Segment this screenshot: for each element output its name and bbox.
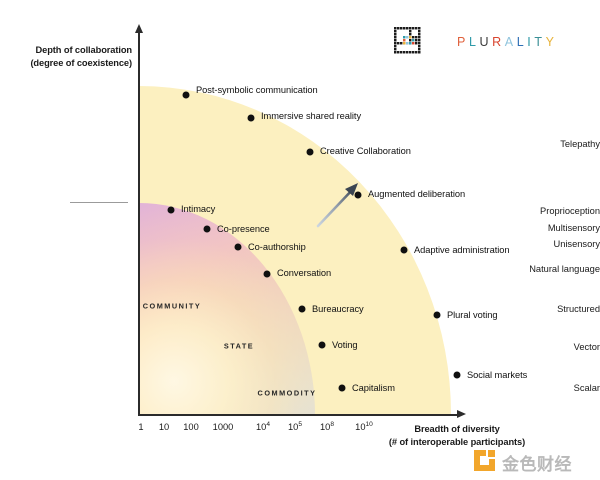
y-axis-tick-label: Natural language (472, 264, 600, 274)
logo-letter: I (527, 35, 534, 49)
x-axis-line (138, 414, 460, 416)
data-point-marker (299, 306, 306, 313)
data-point-marker (183, 92, 190, 99)
y-axis-title-line1: Depth of collaboration (8, 44, 132, 57)
data-point-marker (235, 244, 242, 251)
data-point-label: Immersive shared reality (261, 111, 361, 121)
data-point-marker (264, 271, 271, 278)
watermark: 金色财经 (473, 448, 593, 474)
data-point-marker (204, 226, 211, 233)
chart-screenshot: Depth of collaboration (degree of coexis… (0, 0, 600, 480)
logo-letter: Y (546, 35, 558, 49)
data-point-label: Voting (332, 340, 358, 350)
data-point-marker (434, 312, 441, 319)
y-axis-title-line2: (degree of coexistence) (8, 57, 132, 70)
data-point-label: Post-symbolic communication (196, 85, 318, 95)
data-point-marker (454, 372, 461, 379)
x-axis-tick-label: 100 (183, 422, 199, 432)
data-point-marker (248, 115, 255, 122)
logo-letter: P (457, 35, 469, 49)
data-point-label: Augmented deliberation (368, 189, 465, 199)
data-point-label: Adaptive administration (414, 245, 510, 255)
region-label: COMMODITY (258, 389, 317, 398)
data-point-marker (355, 192, 362, 199)
y-axis-divider-rule (70, 202, 128, 203)
y-axis-title: Depth of collaboration (degree of coexis… (8, 44, 132, 70)
data-point-label: Social markets (467, 370, 527, 380)
data-point-label: Co-authorship (248, 242, 306, 252)
x-axis-tick-label: 10 (159, 422, 169, 432)
plurality-logo: PLURALITY (391, 24, 563, 64)
x-axis-tick-label: 104 (256, 422, 270, 432)
x-axis-tick-label: 105 (288, 422, 302, 432)
data-point-marker (168, 207, 175, 214)
data-point-label: Creative Collaboration (320, 146, 411, 156)
plurality-logo-wordmark: PLURALITY (457, 35, 558, 49)
data-point-marker (307, 149, 314, 156)
data-point-label: Co-presence (217, 224, 270, 234)
y-axis-tick-label: Proprioception (472, 206, 600, 216)
plurality-logo-mark-icon (391, 24, 447, 64)
logo-letter: A (505, 35, 517, 49)
y-axis-tick-label: Scalar (472, 383, 600, 393)
data-point-marker (319, 342, 326, 349)
y-axis-arrow-icon (135, 24, 143, 33)
x-axis-tick-label: 1010 (355, 422, 373, 432)
data-point-label: Capitalism (352, 383, 395, 393)
data-point-label: Conversation (277, 268, 331, 278)
watermark-text: 金色财经 (502, 450, 572, 475)
data-point-label: Bureaucracy (312, 304, 364, 314)
logo-letter: U (480, 35, 493, 49)
y-axis-tick-label: Telepathy (472, 139, 600, 149)
data-point-marker (339, 385, 346, 392)
data-point-label: Plural voting (447, 310, 498, 320)
x-axis-tick-label: 1 (138, 422, 143, 432)
x-axis-arrow-icon (457, 410, 466, 418)
y-axis-line (138, 32, 140, 415)
logo-letter: T (534, 35, 545, 49)
logo-letter: R (492, 35, 505, 49)
region-label: COMMUNITY (143, 302, 202, 311)
y-axis-tick-label: Multisensory (472, 223, 600, 233)
data-point-label: Intimacy (181, 204, 215, 214)
logo-letter: L (469, 35, 480, 49)
x-axis-tick-label: 1000 (213, 422, 234, 432)
logo-letter: L (517, 35, 528, 49)
data-point-marker (401, 247, 408, 254)
region-label: STATE (224, 342, 254, 351)
watermark-logo-icon (473, 449, 496, 472)
y-axis-tick-label: Vector (472, 342, 600, 352)
x-axis-tick-label: 108 (320, 422, 334, 432)
